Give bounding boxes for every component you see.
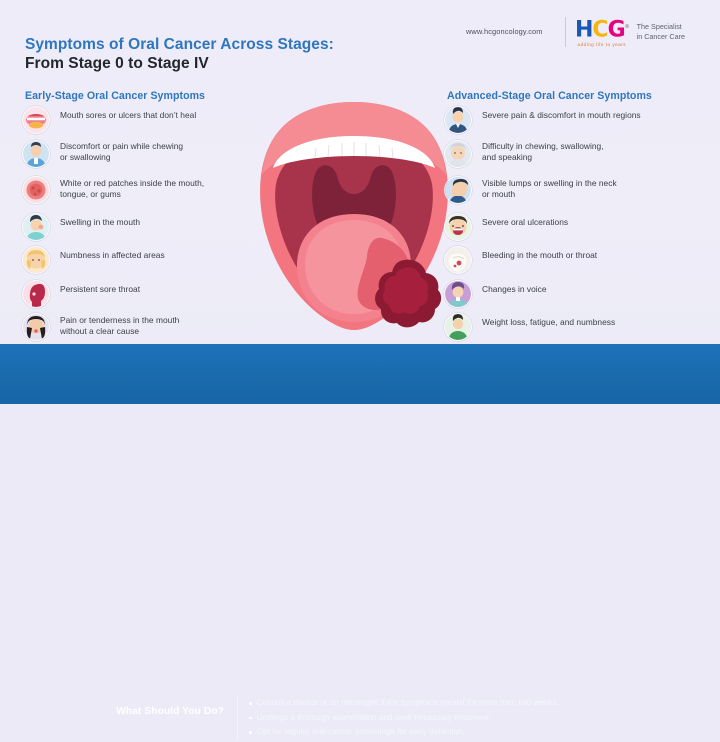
blonde-woman-face-icon: [22, 246, 50, 274]
page-title-line2: From Stage 0 to Stage IV: [25, 55, 209, 73]
man-chewing-pain-icon: [22, 140, 50, 168]
woman-mouth-pain-icon: [22, 313, 50, 341]
page-title-line1: Symptoms of Oral Cancer Across Stages:: [25, 36, 334, 54]
logo-letter-c: C: [592, 17, 607, 42]
symptom-row: Discomfort or pain while chewingor swall…: [22, 140, 272, 171]
symptom-row: Swelling in the mouth: [22, 213, 272, 241]
symptom-text: Mouth sores or ulcers that don’t heal: [60, 106, 196, 121]
symptom-text: Severe pain & discomfort in mouth region…: [482, 106, 641, 121]
footer-advice-item: Consult a dentist or an oncologist if th…: [249, 698, 689, 708]
logo-letter-h: H: [575, 17, 592, 42]
elderly-chewing-icon: [444, 140, 472, 168]
symptom-row: Severe pain & discomfort in mouth region…: [444, 106, 706, 134]
red-patch-tongue-icon: [22, 176, 50, 204]
symptom-row: Difficulty in chewing, swallowing,and sp…: [444, 140, 706, 171]
logo-letters: HCG®: [575, 16, 629, 41]
symptom-row: Changes in voice: [444, 280, 706, 308]
right-column-heading: Advanced-Stage Oral Cancer Symptoms: [447, 90, 652, 102]
logo-claim-line1: The Specialist: [637, 22, 685, 32]
footer-advice-text: Consult a dentist or an oncologist if th…: [257, 698, 559, 708]
symptom-text: Visible lumps or swelling in the neckor …: [482, 176, 617, 200]
footer-advice-item: Undergo a thorough examination and seek …: [249, 713, 689, 723]
footer-advice-text: Undergo a thorough examination and seek …: [257, 713, 492, 723]
man-swollen-cheek-icon: [22, 213, 50, 241]
footer-bar: What Should You Do? Consult a dentist or…: [0, 344, 720, 404]
symptom-row: Mouth sores or ulcers that don’t heal: [22, 106, 272, 134]
symptom-text: Persistent sore throat: [60, 280, 140, 295]
symptom-text: Changes in voice: [482, 280, 547, 295]
symptom-row: Persistent sore throat: [22, 280, 272, 308]
man-severe-pain-icon: [444, 106, 472, 134]
symptom-text: Numbness in affected areas: [60, 246, 165, 261]
infographic-page: www.hcgoncology.com HCG® adding life to …: [0, 0, 720, 404]
symptom-text: Swelling in the mouth: [60, 213, 140, 228]
logo-tagline: adding life to years: [575, 42, 629, 47]
bullet-dot-icon: [249, 731, 252, 734]
early-stage-symptom-list: Mouth sores or ulcers that don’t healDis…: [22, 106, 272, 350]
symptom-text: Severe oral ulcerations: [482, 213, 568, 228]
footer-question: What Should You Do?: [72, 706, 224, 717]
weight-loss-fatigue-icon: [444, 313, 472, 341]
advanced-stage-symptom-list: Severe pain & discomfort in mouth region…: [444, 106, 706, 347]
symptom-text: White or red patches inside the mouth,to…: [60, 176, 204, 200]
footer-advice-text: Opt for regular oral cancer screenings f…: [257, 727, 465, 737]
mouth-ulcer-icon: [22, 106, 50, 134]
site-url[interactable]: www.hcgoncology.com: [466, 27, 543, 36]
symptom-row: Numbness in affected areas: [22, 246, 272, 274]
logo-mark: HCG® adding life to years: [575, 16, 629, 47]
symptom-row: Bleeding in the mouth or throat: [444, 246, 706, 274]
footer-advice-list: Consult a dentist or an oncologist if th…: [249, 698, 689, 742]
symptom-text: Weight loss, fatigue, and numbness: [482, 313, 615, 328]
left-column-heading: Early-Stage Oral Cancer Symptoms: [25, 90, 205, 102]
symptom-row: Weight loss, fatigue, and numbness: [444, 313, 706, 341]
open-mouth-ulcer-icon: [444, 213, 472, 241]
symptom-text: Bleeding in the mouth or throat: [482, 246, 597, 261]
symptom-row: Severe oral ulcerations: [444, 213, 706, 241]
symptom-row: Pain or tenderness in the mouthwithout a…: [22, 313, 272, 344]
open-mouth-with-tongue-lesion-illustration: [254, 96, 454, 338]
footer-advice-item: Opt for regular oral cancer screenings f…: [249, 727, 689, 737]
symptom-text: Difficulty in chewing, swallowing,and sp…: [482, 140, 604, 164]
bleeding-tissue-icon: [444, 246, 472, 274]
neck-lump-profile-icon: [444, 176, 472, 204]
logo-claim-line2: in Cancer Care: [637, 32, 685, 42]
registered-mark: ®: [625, 24, 629, 30]
logo-letter-g: G: [608, 17, 625, 42]
symptom-text: Discomfort or pain while chewingor swall…: [60, 140, 183, 164]
symptom-row: White or red patches inside the mouth,to…: [22, 176, 272, 207]
bullet-dot-icon: [249, 702, 252, 705]
logo-divider: [565, 17, 566, 47]
footer-divider: [237, 696, 238, 740]
symptom-row: Visible lumps or swelling in the neckor …: [444, 176, 706, 207]
sore-throat-profile-icon: [22, 280, 50, 308]
bullet-dot-icon: [249, 717, 252, 720]
voice-change-icon: [444, 280, 472, 308]
hcg-logo[interactable]: HCG® adding life to years The Specialist…: [565, 16, 685, 47]
logo-claim: The Specialist in Cancer Care: [637, 22, 685, 41]
symptom-text: Pain or tenderness in the mouthwithout a…: [60, 313, 179, 337]
